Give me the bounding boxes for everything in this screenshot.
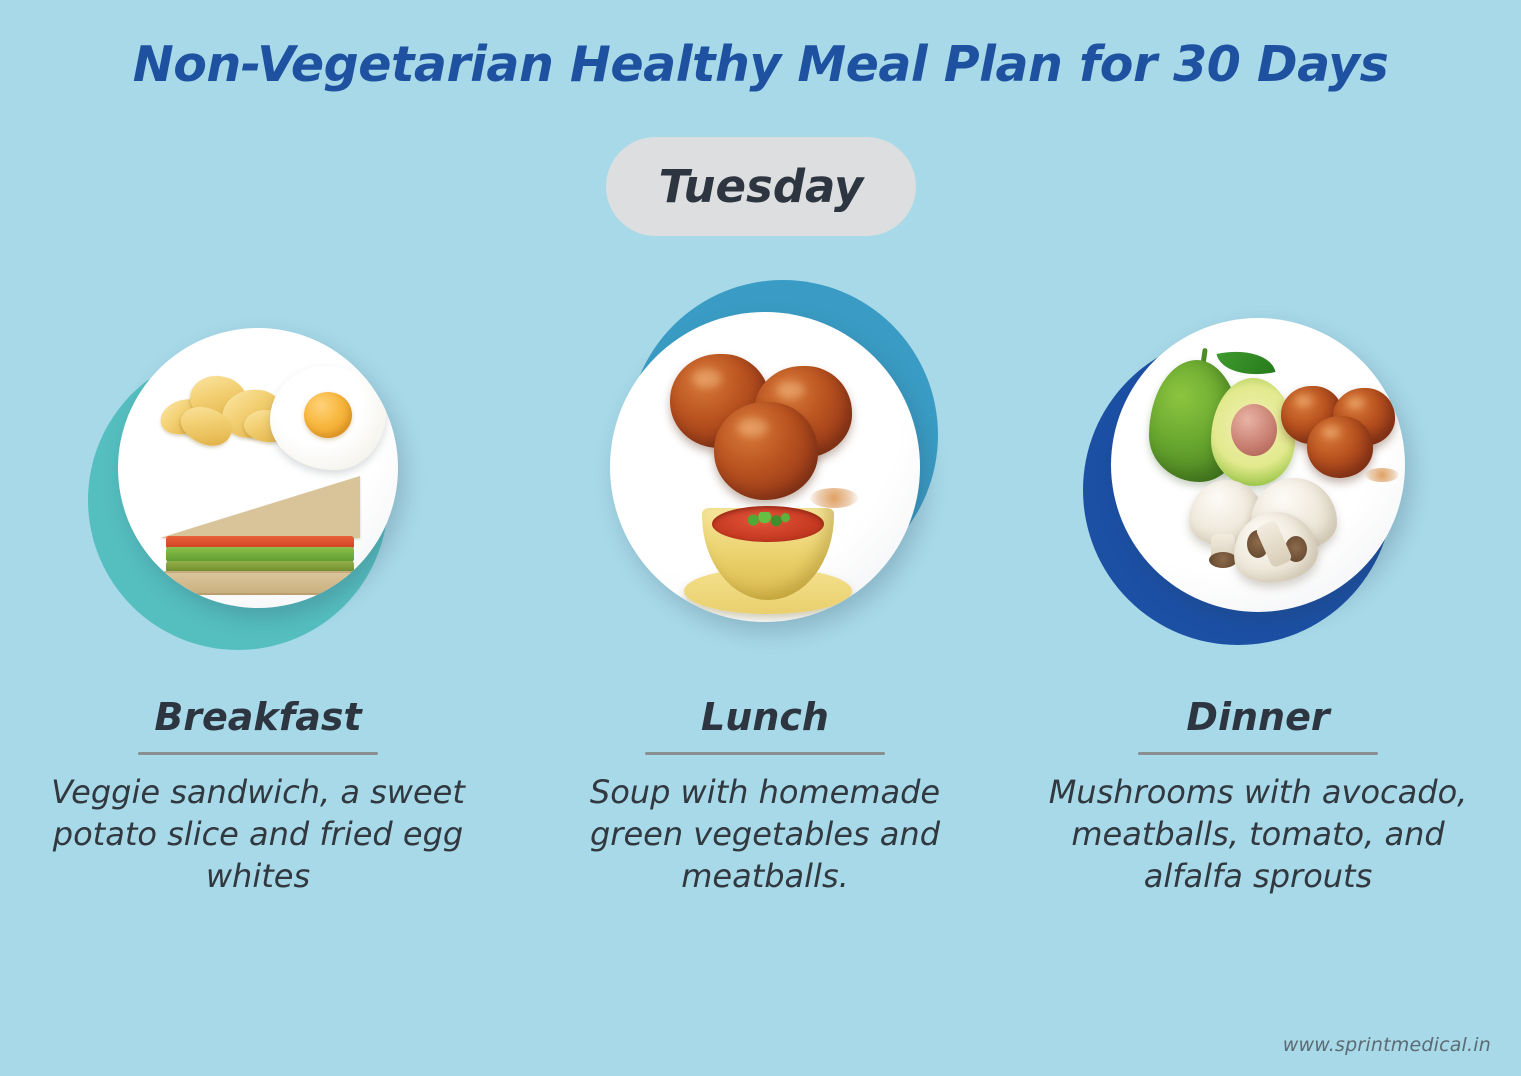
- meatballs-icon: [670, 340, 870, 500]
- meal-name-lunch: Lunch: [515, 698, 1015, 738]
- dinner-caption: Dinner Mushrooms with avocado, meatballs…: [1008, 698, 1508, 898]
- meal-description-dinner: Mushrooms with avocado, meatballs, tomat…: [1008, 771, 1508, 898]
- meal-column-dinner: Dinner Mushrooms with avocado, meatballs…: [1008, 0, 1508, 1076]
- breakfast-divider: [138, 752, 378, 755]
- lunch-plate-stage: [515, 280, 1015, 700]
- mushrooms-icon: [1189, 478, 1339, 588]
- site-watermark: www.sprintmedical.in: [1283, 1034, 1491, 1056]
- breakfast-plate: [118, 328, 398, 608]
- infographic-page: Non-Vegetarian Healthy Meal Plan for 30 …: [0, 0, 1521, 1076]
- breakfast-caption: Breakfast Veggie sandwich, a sweet potat…: [8, 698, 508, 898]
- fried-egg-icon: [270, 366, 386, 470]
- meal-column-lunch: Lunch Soup with homemade green vegetable…: [515, 0, 1015, 1076]
- dinner-plate: [1111, 318, 1405, 612]
- dinner-divider: [1138, 752, 1378, 755]
- breakfast-plate-stage: [8, 280, 508, 700]
- avocado-icon: [1149, 348, 1299, 488]
- lunch-plate: [610, 312, 920, 622]
- lunch-divider: [645, 752, 885, 755]
- tomato-soup-bowl-icon: [682, 490, 854, 618]
- lunch-caption: Lunch Soup with homemade green vegetable…: [515, 698, 1015, 898]
- dinner-plate-stage: [1008, 280, 1508, 700]
- meatballs-icon: [1281, 380, 1401, 490]
- meal-column-breakfast: Breakfast Veggie sandwich, a sweet potat…: [8, 0, 508, 1076]
- meal-description-lunch: Soup with homemade green vegetables and …: [515, 771, 1015, 898]
- meal-name-breakfast: Breakfast: [8, 698, 508, 738]
- meal-name-dinner: Dinner: [1008, 698, 1508, 738]
- meal-description-breakfast: Veggie sandwich, a sweet potato slice an…: [8, 771, 508, 898]
- veggie-sandwich-icon: [160, 476, 360, 596]
